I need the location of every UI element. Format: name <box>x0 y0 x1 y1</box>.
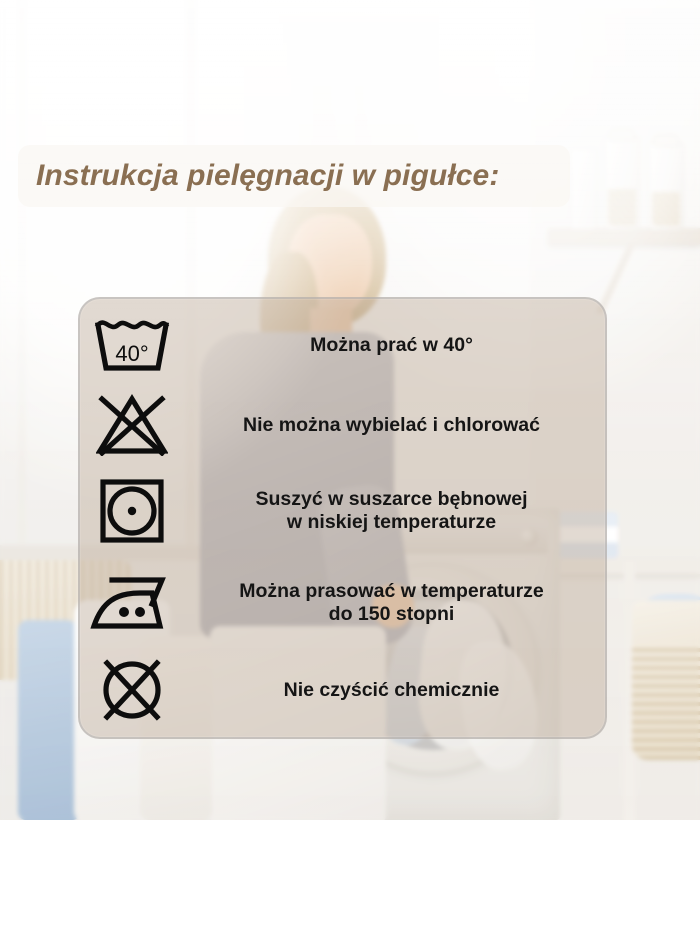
care-instructions-graphic: Instrukcja pielęgnacji w pigułce: 40° Mo… <box>0 0 700 945</box>
page-title: Instrukcja pielęgnacji w pigułce: <box>18 159 499 193</box>
care-label-dry-clean-line1: Nie czyścić chemicznie <box>184 679 599 702</box>
do-not-bleach-triangle-crossed-icon <box>80 394 184 456</box>
do-not-dry-clean-circle-crossed-icon <box>80 657 184 723</box>
care-label-iron-line1: Można prasować w temperaturze <box>184 580 599 603</box>
care-label-bleach: Nie można wybielać i chlorować <box>184 414 605 437</box>
care-row-bleach: Nie można wybielać i chlorować <box>80 385 605 465</box>
care-label-wash: Można prać w 40° <box>184 334 605 357</box>
title-banner: Instrukcja pielęgnacji w pigułce: <box>18 145 570 207</box>
wash-tub-40-icon: 40° <box>80 316 184 374</box>
care-label-tumble-dry: Suszyć w suszarce bębnowej w niskiej tem… <box>184 488 605 533</box>
footer-whitespace <box>0 820 700 945</box>
care-label-wash-line1: Można prać w 40° <box>184 334 599 357</box>
care-row-tumble-dry: Suszyć w suszarce bębnowej w niskiej tem… <box>80 465 605 557</box>
care-instructions-panel: 40° Można prać w 40° Nie można wybielać … <box>78 297 607 739</box>
care-label-dry-clean: Nie czyścić chemicznie <box>184 679 605 702</box>
care-row-dry-clean: Nie czyścić chemicznie <box>80 649 605 731</box>
care-label-tumble-dry-line2: w niskiej temperaturze <box>184 511 599 534</box>
wash-temperature-label: 40° <box>115 341 148 366</box>
care-label-iron-line2: do 150 stopni <box>184 603 599 626</box>
iron-two-dots-icon <box>80 574 184 632</box>
tumble-dry-low-one-dot-icon <box>80 478 184 544</box>
care-row-wash: 40° Można prać w 40° <box>80 305 605 385</box>
care-label-tumble-dry-line1: Suszyć w suszarce bębnowej <box>184 488 599 511</box>
care-label-bleach-line1: Nie można wybielać i chlorować <box>184 414 599 437</box>
care-row-iron: Można prasować w temperaturze do 150 sto… <box>80 557 605 649</box>
care-label-iron: Można prasować w temperaturze do 150 sto… <box>184 580 605 625</box>
